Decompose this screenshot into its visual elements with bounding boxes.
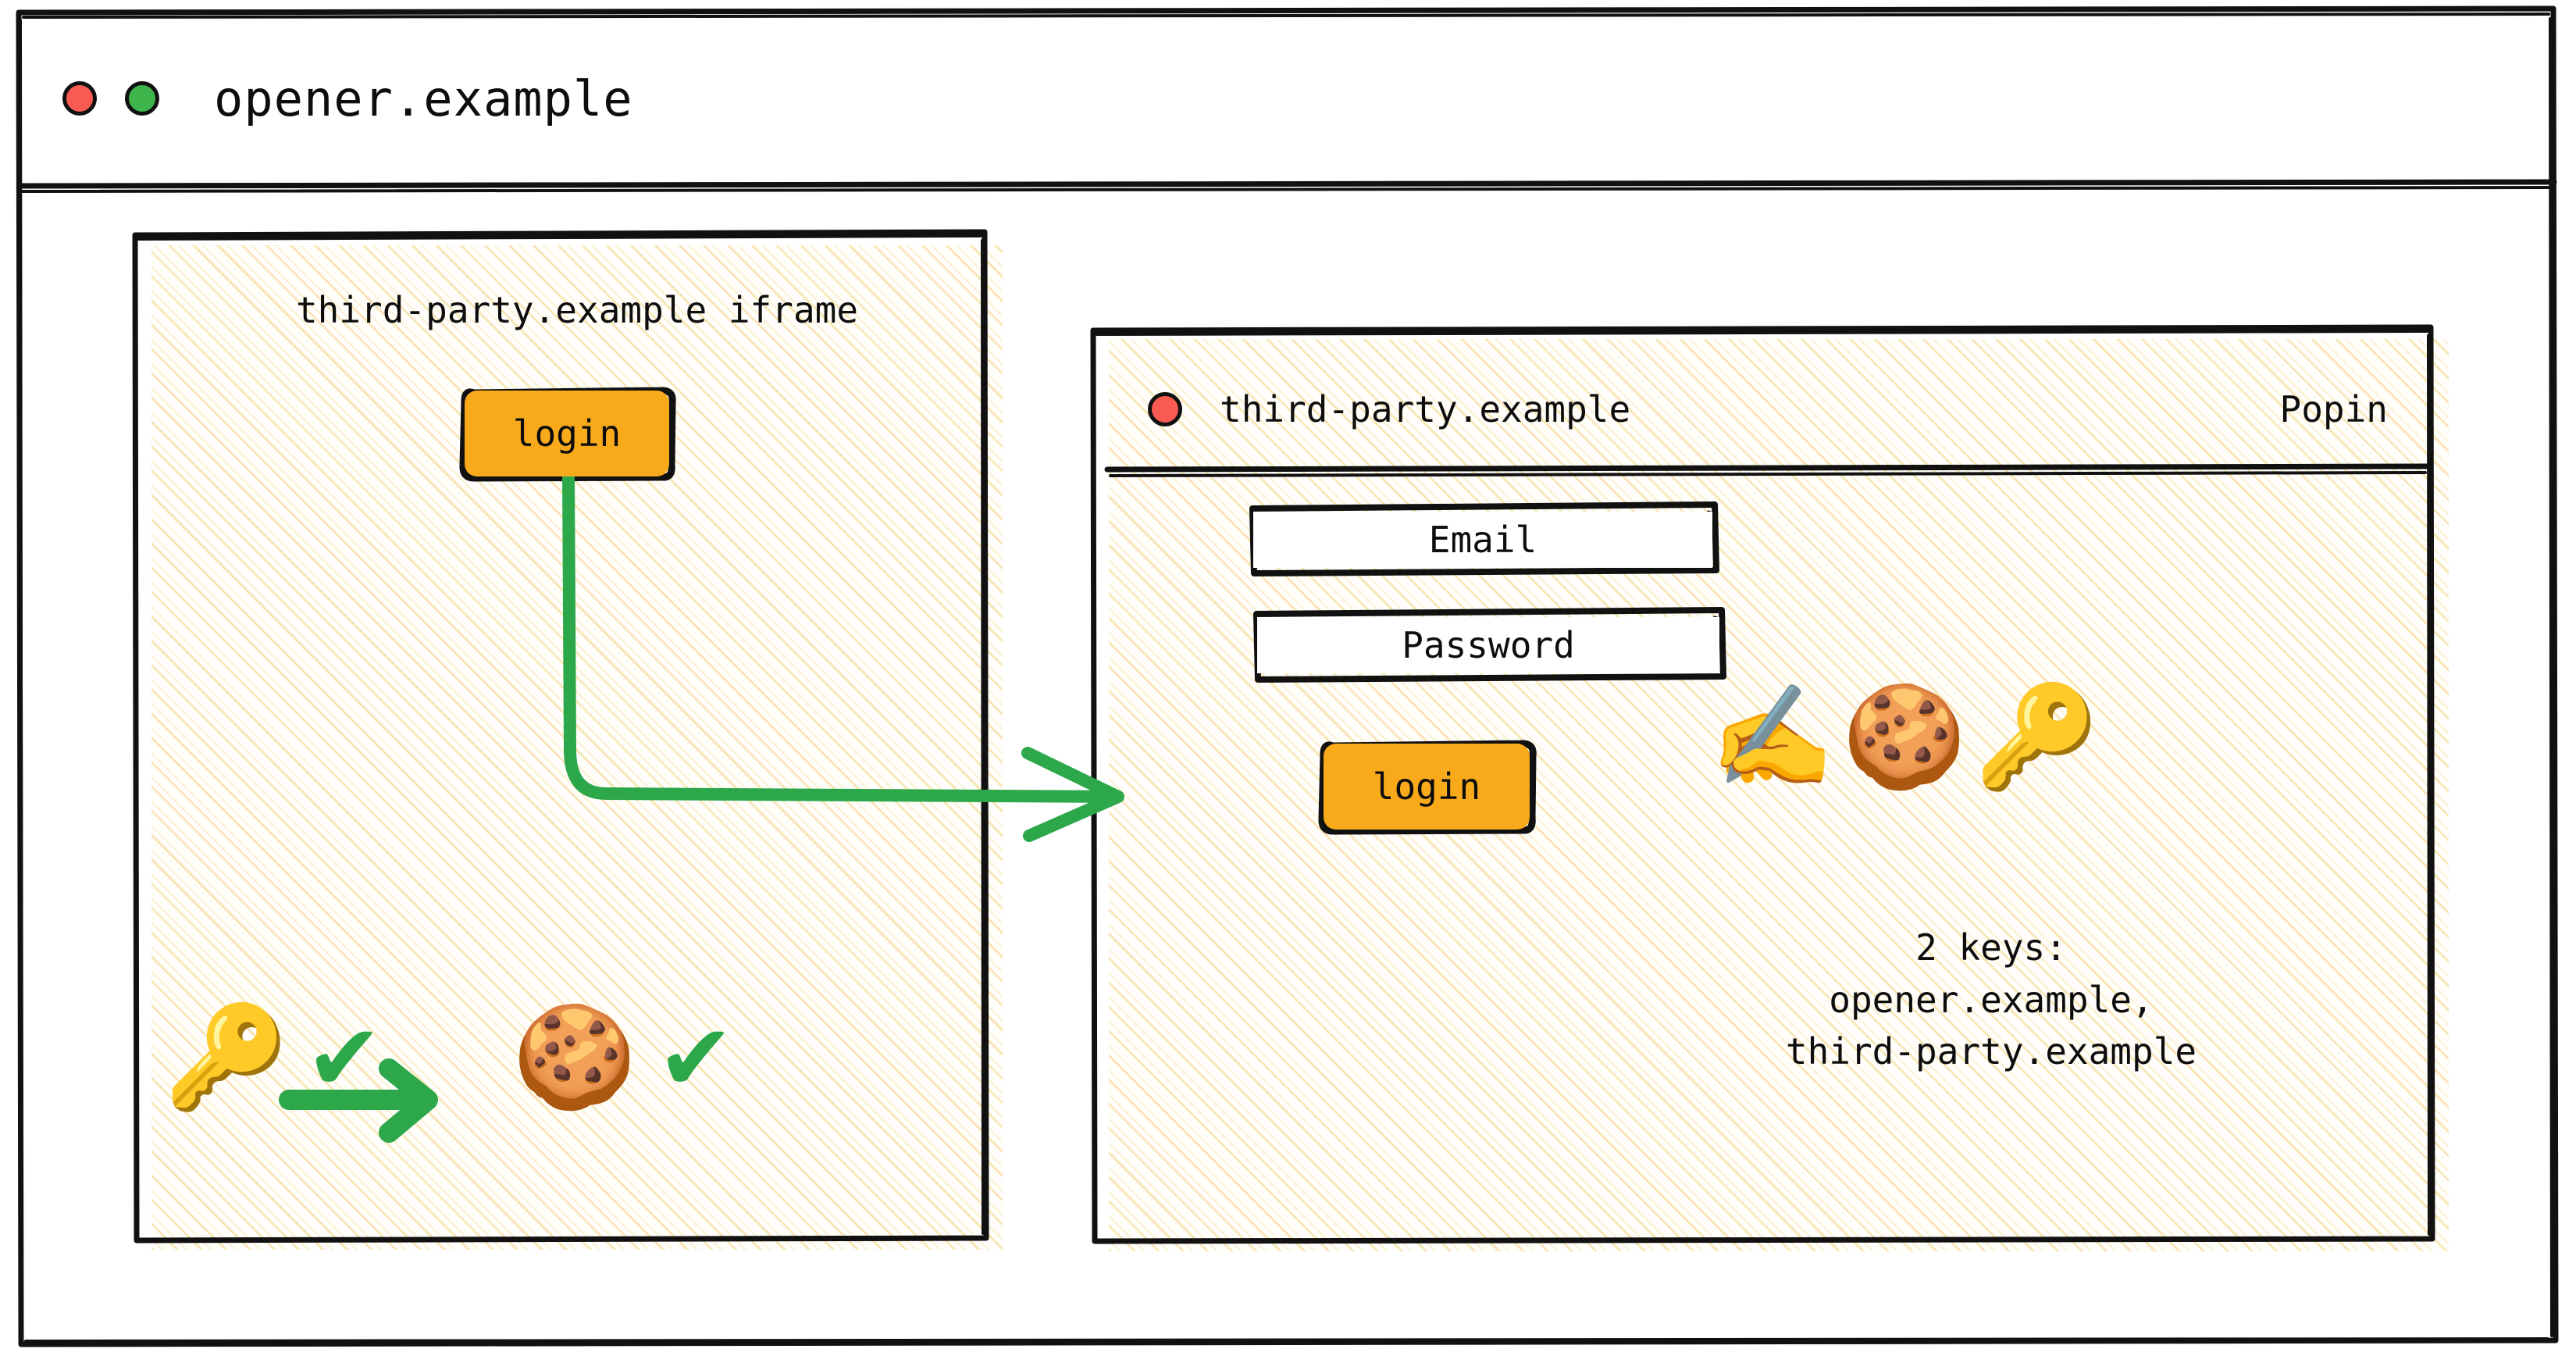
email-field[interactable]: Email: [1253, 512, 1712, 568]
cookie-check-icon: ✔: [657, 1012, 735, 1104]
iframe-title: third-party.example iframe: [151, 289, 1003, 331]
minimize-dot-icon[interactable]: [125, 81, 159, 116]
key-check-icon: ✔: [305, 1012, 383, 1104]
window-controls[interactable]: [62, 81, 159, 116]
cookie-icon: 🍪: [512, 1008, 636, 1108]
iframe-storage-status: 🔑 ✔ 🍪 ✔: [164, 1008, 735, 1108]
diagram-canvas: opener.example third-party.example ifram…: [0, 0, 2576, 1356]
popup-host-label: third-party.example: [1220, 388, 1630, 430]
key-icon: 🔑: [164, 1008, 288, 1108]
popup-close-dot-icon[interactable]: [1148, 392, 1182, 426]
keys-note: 2 keys: opener.example, third-party.exam…: [1648, 922, 2335, 1078]
close-dot-icon[interactable]: [62, 81, 97, 116]
writing-hand-icon: ✍️: [1710, 687, 1834, 787]
popup-login-button[interactable]: login: [1324, 744, 1530, 830]
iframe-login-button[interactable]: login: [465, 391, 669, 476]
password-field[interactable]: Password: [1257, 617, 1719, 673]
key-icon: 🔑: [1975, 687, 2099, 787]
popup-credential-icons: ✍️ 🍪 🔑: [1710, 687, 2099, 787]
window-titlebar: opener.example: [17, 11, 2555, 186]
browser-window: opener.example third-party.example ifram…: [17, 11, 2555, 1340]
popup-window-panel: third-party.example Popin: [1109, 339, 2449, 1251]
popup-titlebar: third-party.example Popin: [1109, 339, 2449, 480]
popup-kind-label: Popin: [2280, 388, 2388, 430]
cookie-icon: 🍪: [1842, 687, 1966, 787]
window-title: opener.example: [214, 70, 633, 127]
